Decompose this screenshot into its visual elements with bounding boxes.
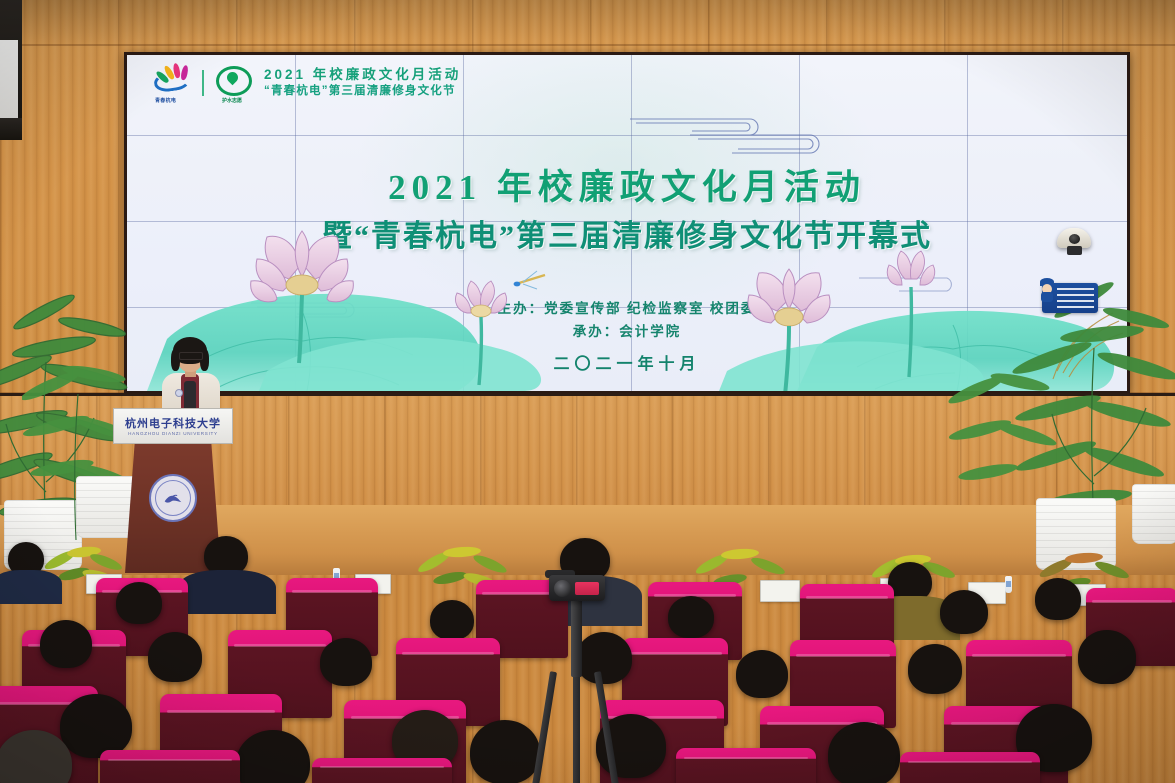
university-name-en: HANGZHOU DIANZI UNIVERSITY [114,431,232,436]
screen-header-line1: 2021 年校廉政文化月活动 [264,68,461,83]
screen-header-line2: “青春杭电”第三届清廉修身文化节 [264,85,461,98]
cloud-motif-icon [622,103,842,155]
logo-label: 青春杭电 [155,97,176,104]
audience-head [736,650,788,698]
coorganizer-line: 承办：会计学院 [127,320,1127,340]
audience-head [940,590,988,634]
tripod-leg [532,671,557,783]
video-camera [549,575,605,601]
audience-head [1035,578,1081,620]
audience-head [1078,630,1136,684]
wall-speaker-base [0,118,22,140]
photo-scene: 青春杭电 护水志愿 2021 年校廉政文化月活动 “青春杭电”第三届清廉修身文化… [0,0,1175,783]
audience-head [40,620,92,668]
water-bottle [1005,576,1012,593]
logo-divider [202,70,204,96]
screen-header: 青春杭电 护水志愿 2021 年校廉政文化月活动 “青春杭电”第三届清廉修身文化… [153,63,461,103]
audience-head [908,644,962,694]
audience-head [470,720,540,783]
led-screen-content: 青春杭电 护水志愿 2021 年校廉政文化月活动 “青春杭电”第三届清廉修身文化… [127,55,1127,391]
seat-name-card [760,580,800,602]
audience-head [116,582,162,624]
event-title-line2: 暨“青春杭电”第三届清廉修身文化节开幕式 [127,211,1127,255]
video-camera-tripod [533,575,619,783]
audience-shoulders [0,570,62,604]
tripod-leg [594,671,619,783]
speaker-person [160,337,222,415]
logo-label: 护水志愿 [213,97,251,104]
swoosh-logo-icon: 青春杭电 [153,63,193,103]
audience-head [828,722,900,783]
event-date: 二〇二一年十月 [127,350,1127,374]
cloud-motif-icon [853,269,973,297]
tripod-column [571,599,582,677]
wall-seam [0,44,1175,46]
auditorium-seat [900,752,1040,783]
mascot-figure-icon [1039,278,1055,302]
camera-screen [575,582,599,595]
audience-head [236,730,310,783]
host-line: 主办：党委宣传部 纪检监察室 校团委 [127,297,1127,317]
university-seal [149,474,197,522]
auditorium-seat [100,750,240,783]
seal-emblem-icon [163,491,183,505]
audience-shoulders [178,570,276,614]
audience-head [668,596,714,638]
glasses-icon [179,352,203,360]
podium-nameplate: 杭州电子科技大学 HANGZHOU DIANZI UNIVERSITY [113,408,233,444]
audience-head [430,600,474,640]
speaker-badge [175,389,183,397]
event-title-line1: 2021 年校廉政文化月活动 [127,159,1127,210]
university-name-cn: 杭州电子科技大学 [114,415,232,431]
water-drop-circle-icon: 护水志愿 [213,63,251,103]
audience-head [320,638,372,686]
audience-head [60,694,132,758]
camera-lens-icon [554,580,571,597]
tripod-leg [573,671,580,783]
audience-head [148,632,202,682]
auditorium-seat [676,748,816,783]
security-camera-icon [1057,228,1091,254]
led-screen: 青春杭电 护水志愿 2021 年校廉政文化月活动 “青春杭电”第三届清廉修身文化… [124,52,1130,394]
auditorium-seat [312,758,452,783]
